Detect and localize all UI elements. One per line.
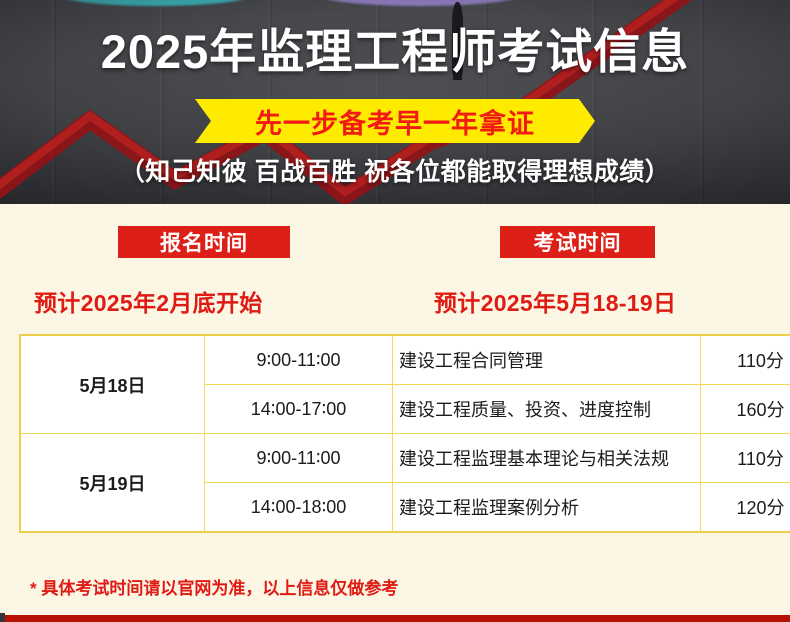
hero-subtitle: （知己知彼 百战百胜 祝各位都能取得理想成绩） <box>0 152 790 188</box>
cell-subject: 建设工程质量、投资、进度控制 <box>393 385 701 434</box>
cell-score: 110分 <box>701 434 790 483</box>
bottom-accent-strip <box>0 615 790 622</box>
cell-day: 5月18日 <box>20 335 205 434</box>
cell-time: 9∶00-11∶00 <box>205 335 393 385</box>
tagline-ribbon: 先一步备考早一年拿证 <box>195 99 595 143</box>
table-row: 5月19日 9∶00-11∶00 建设工程监理基本理论与相关法规 110分 <box>20 434 790 483</box>
cell-score: 110分 <box>701 335 790 385</box>
cell-subject: 建设工程监理基本理论与相关法规 <box>393 434 701 483</box>
registration-time-badge: 报名时间 <box>118 226 290 258</box>
footnote-text: * 具体考试时间请以官网为准，以上信息仅做参考 <box>30 574 398 599</box>
cell-subject: 建设工程监理案例分析 <box>393 483 701 533</box>
cell-time: 9∶00-11∶00 <box>205 434 393 483</box>
table-row: 5月18日 9∶00-11∶00 建设工程合同管理 110分 <box>20 335 790 385</box>
hero-banner: 2025年监理工程师考试信息 先一步备考早一年拿证 （知己知彼 百战百胜 祝各位… <box>0 0 790 204</box>
bottom-strip-left-cap <box>0 613 5 622</box>
cell-score: 120分 <box>701 483 790 533</box>
exam-schedule-table: 5月18日 9∶00-11∶00 建设工程合同管理 110分 14∶00-17∶… <box>19 334 790 533</box>
cell-day: 5月19日 <box>20 434 205 533</box>
exam-time-badge: 考试时间 <box>500 226 655 258</box>
exam-date-text: 预计2025年5月18-19日 <box>434 284 676 318</box>
cell-time: 14∶00-17∶00 <box>205 385 393 434</box>
content-area: 报名时间 考试时间 预计2025年2月底开始 预计2025年5月18-19日 5… <box>0 204 790 622</box>
cell-score: 160分 <box>701 385 790 434</box>
tagline-text: 先一步备考早一年拿证 <box>255 102 535 141</box>
registration-date-text: 预计2025年2月底开始 <box>34 284 263 318</box>
page-title: 2025年监理工程师考试信息 <box>0 24 790 80</box>
cell-time: 14∶00-18∶00 <box>205 483 393 533</box>
hero-content: 2025年监理工程师考试信息 先一步备考早一年拿证 （知己知彼 百战百胜 祝各位… <box>0 0 790 204</box>
cell-subject: 建设工程合同管理 <box>393 335 701 385</box>
